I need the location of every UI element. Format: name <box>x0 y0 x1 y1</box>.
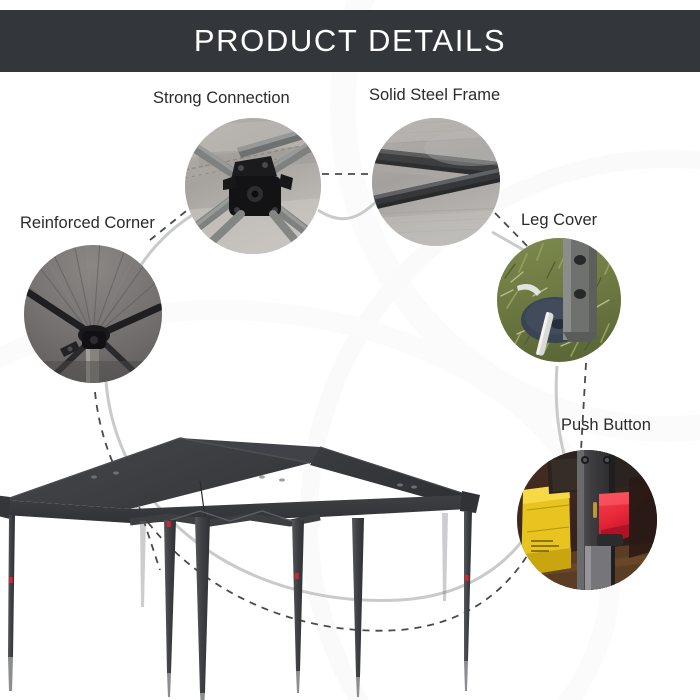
leg-cover-part <box>563 238 597 342</box>
guide-curve-top-link <box>318 200 378 219</box>
feature-label-solid-steel-frame: Solid Steel Frame <box>369 86 500 105</box>
feature-label-strong-connection: Strong Connection <box>153 89 290 108</box>
gazebo-leg <box>195 517 210 700</box>
callout-photo-push-button <box>517 450 657 590</box>
callout-photo-strong-connection <box>185 118 321 254</box>
callout-photo-solid-steel-frame <box>372 118 500 246</box>
callout-photo-reinforced-corner <box>24 245 162 383</box>
gazebo-leg <box>292 520 304 693</box>
product-photo-gazebo <box>0 425 510 700</box>
gazebo-leg <box>8 515 15 691</box>
callout-photo-leg-cover <box>497 238 621 362</box>
corner-joint-part <box>78 325 110 349</box>
push-button-part <box>597 492 631 546</box>
feature-label-push-button: Push Button <box>561 416 651 435</box>
guide-curve-right-lower <box>556 366 566 462</box>
product-details-infographic: PRODUCT DETAILS Strong Connection Solid … <box>0 0 700 700</box>
gazebo-leg <box>352 518 364 697</box>
dashed-line-reinforced-corner <box>150 208 190 240</box>
gazebo-leg <box>464 511 472 691</box>
feature-label-reinforced-corner: Reinforced Corner <box>20 214 155 233</box>
gazebo-leg <box>164 520 176 697</box>
feature-label-leg-cover: Leg Cover <box>521 211 597 230</box>
